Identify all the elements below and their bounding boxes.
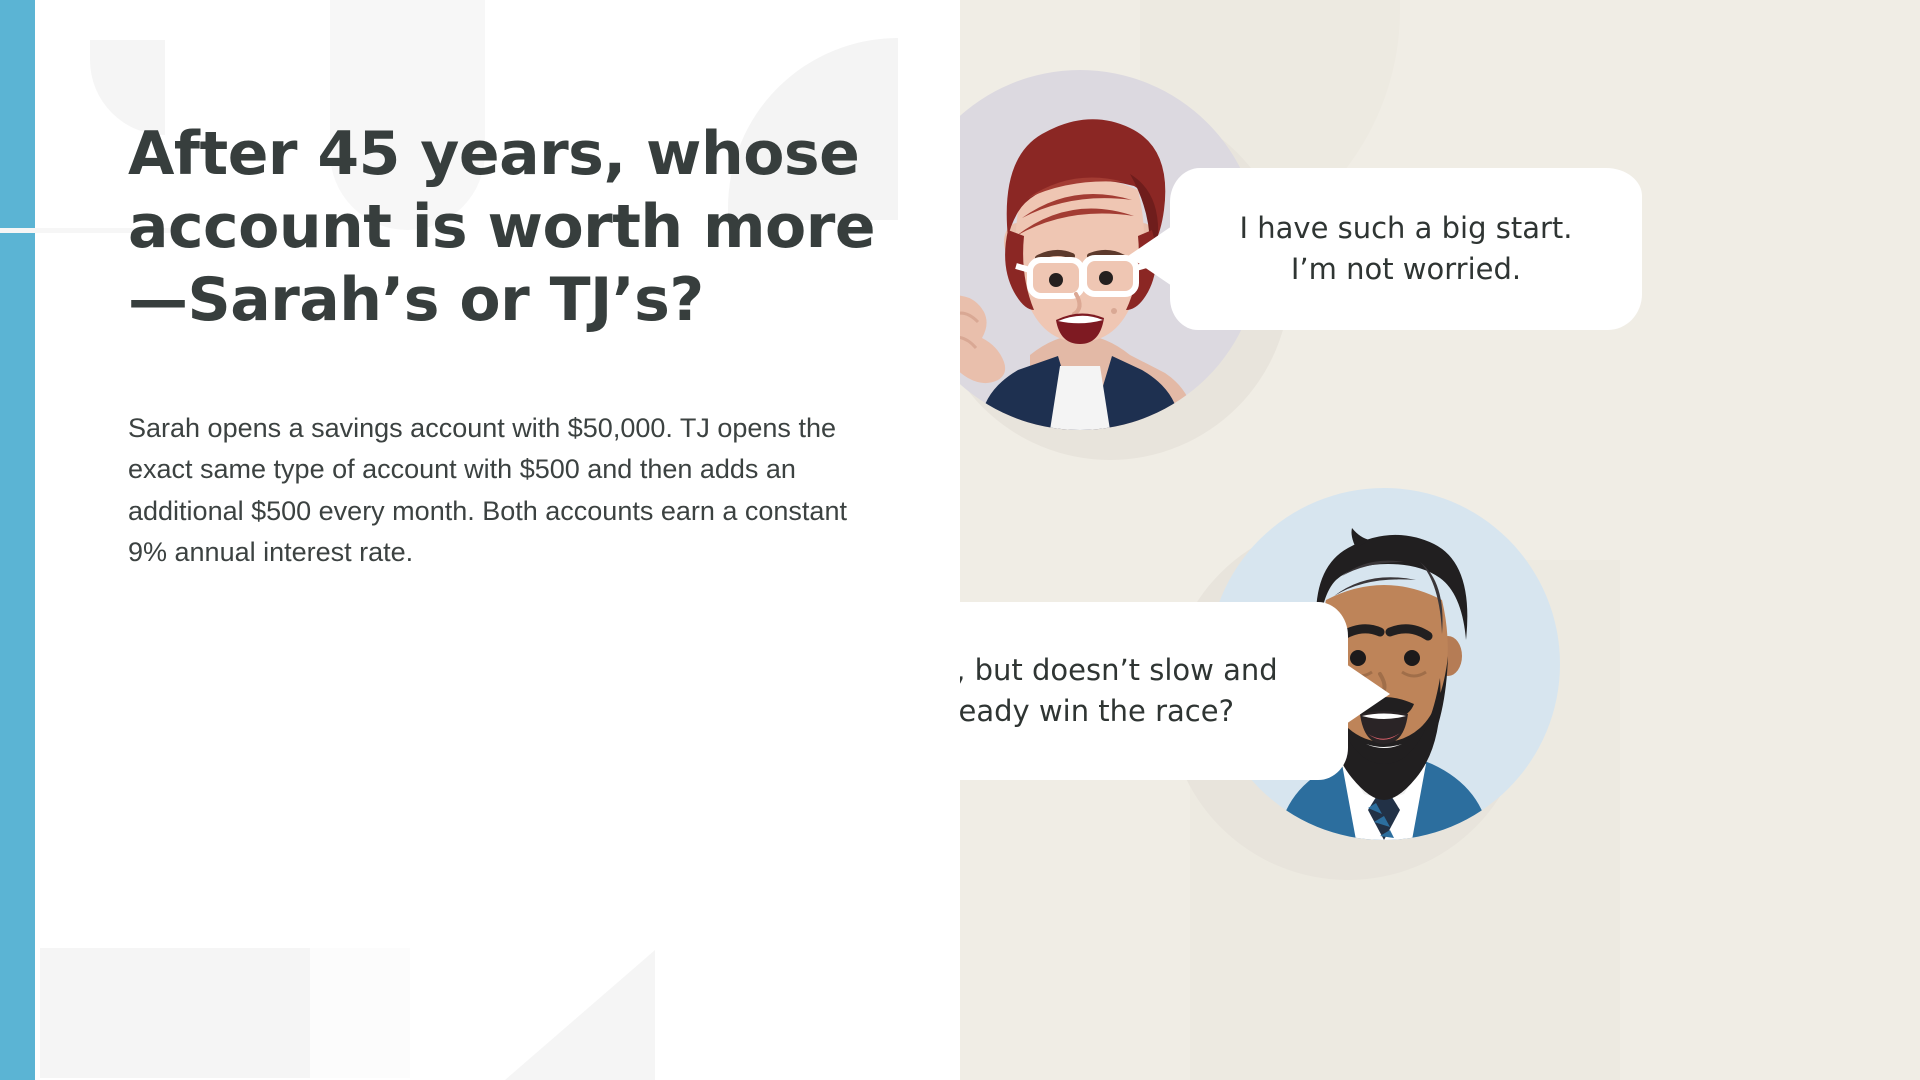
speech-bubble-sarah-text: I have such a big start. I’m not worried… [1239, 208, 1572, 290]
page-title: After 45 years, whose account is worth m… [128, 118, 888, 338]
accent-bar [0, 0, 35, 1080]
right-illustration-panel: I have such a big start. I’m not worried… [960, 0, 1920, 1080]
speech-bubble-tj: Yeah, but doesn’t slow and steady win th… [960, 602, 1348, 780]
decor-shape-band-bottom-light [310, 948, 410, 1078]
speech-bubble-sarah-tail [1128, 226, 1172, 286]
body-paragraph: Sarah opens a savings account with $50,0… [128, 408, 858, 574]
speech-bubble-tj-tail [1346, 664, 1390, 724]
slide-root: After 45 years, whose account is worth m… [0, 0, 1920, 1080]
decor-shape-triangle-bottom [505, 950, 655, 1080]
decor-shape-band-bottom-left [40, 948, 310, 1078]
left-text-panel: After 45 years, whose account is worth m… [0, 0, 960, 1080]
left-content: After 45 years, whose account is worth m… [128, 118, 888, 574]
speech-bubble-tj-text: Yeah, but doesn’t slow and steady win th… [960, 650, 1278, 732]
speech-bubble-sarah: I have such a big start. I’m not worried… [1170, 168, 1642, 330]
